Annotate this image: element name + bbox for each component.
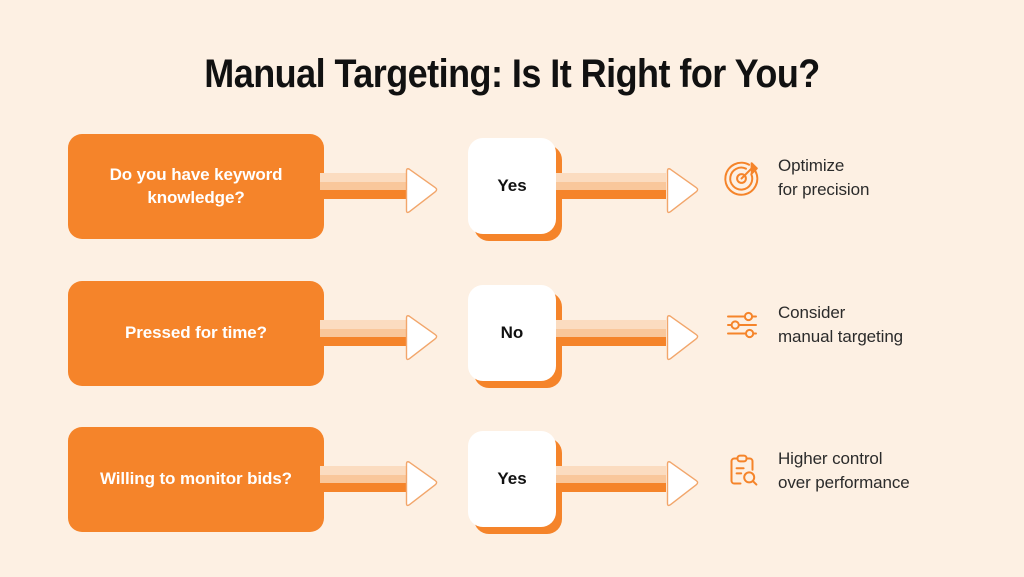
connector-bar-right: [556, 173, 666, 199]
decision-row: Willing to monitor bids? Yes: [0, 427, 1024, 537]
bar-stripe-solid: [320, 190, 406, 199]
decision-row: Pressed for time? No Consider ma: [0, 281, 1024, 391]
arrow-head-icon: [663, 166, 701, 216]
bar-stripe-mid: [556, 329, 666, 337]
arrow-head-icon: [663, 459, 701, 509]
result-text: Higher control over performance: [778, 447, 910, 495]
arrow-head-icon: [402, 459, 440, 509]
result-group: Optimize for precision: [722, 154, 869, 202]
result-text: Optimize for precision: [778, 154, 869, 202]
answer-card: No: [468, 285, 556, 381]
question-box: Do you have keyword knowledge?: [68, 134, 324, 239]
answer-text: No: [501, 323, 524, 343]
bar-stripe-light: [320, 466, 406, 475]
bar-stripe-light: [556, 466, 666, 475]
result-text: Consider manual targeting: [778, 301, 903, 349]
bar-stripe-solid: [556, 483, 666, 492]
connector-bar-right: [556, 466, 666, 492]
connector-bar-left: [320, 466, 406, 492]
question-text: Willing to monitor bids?: [100, 468, 292, 491]
answer-card: Yes: [468, 138, 556, 234]
arrow-head-icon: [663, 313, 701, 363]
page-title: Manual Targeting: Is It Right for You?: [51, 52, 973, 97]
question-text: Do you have keyword knowledge?: [82, 164, 310, 210]
decision-row: Do you have keyword knowledge? Yes: [0, 134, 1024, 244]
question-box: Pressed for time?: [68, 281, 324, 386]
bar-stripe-solid: [320, 337, 406, 346]
target-arrow-icon: [722, 158, 762, 198]
bar-stripe-solid: [320, 483, 406, 492]
bar-stripe-solid: [556, 337, 666, 346]
bar-stripe-solid: [556, 190, 666, 199]
connector-bar-left: [320, 173, 406, 199]
arrow-head-icon: [402, 166, 440, 216]
question-text: Pressed for time?: [125, 322, 267, 345]
bar-stripe-mid: [320, 475, 406, 483]
bar-stripe-light: [320, 173, 406, 182]
answer-card: Yes: [468, 431, 556, 527]
clipboard-search-icon: [722, 451, 762, 491]
result-group: Higher control over performance: [722, 447, 910, 495]
arrow-head-icon: [402, 313, 440, 363]
answer-text: Yes: [497, 469, 526, 489]
result-group: Consider manual targeting: [722, 301, 903, 349]
question-box: Willing to monitor bids?: [68, 427, 324, 532]
connector-bar-right: [556, 320, 666, 346]
bar-stripe-mid: [320, 329, 406, 337]
answer-text: Yes: [497, 176, 526, 196]
bar-stripe-light: [556, 320, 666, 329]
bar-stripe-mid: [320, 182, 406, 190]
bar-stripe-mid: [556, 475, 666, 483]
bar-stripe-light: [320, 320, 406, 329]
sliders-icon: [722, 305, 762, 345]
connector-bar-left: [320, 320, 406, 346]
bar-stripe-mid: [556, 182, 666, 190]
bar-stripe-light: [556, 173, 666, 182]
